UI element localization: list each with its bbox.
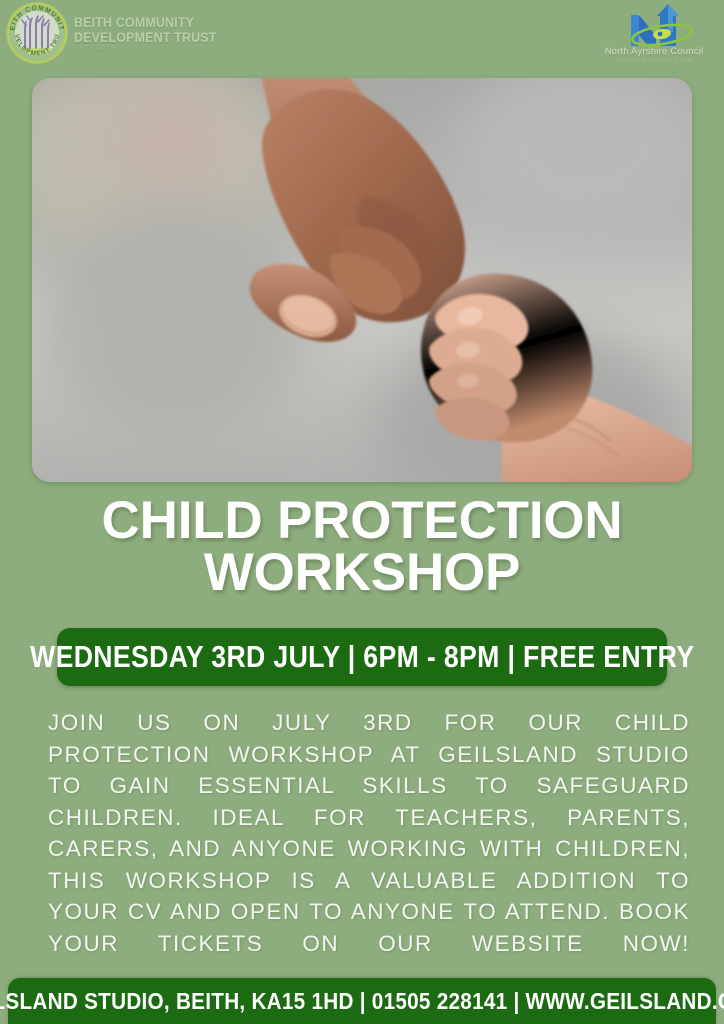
badge-top-text: BEITH COMMUNITY (6, 2, 65, 32)
badge-ring-text: BEITH COMMUNITY DEVELOPMENT TRUST (6, 2, 68, 64)
headline-line2: WORKSHOP (0, 547, 724, 599)
description-paragraph: JOIN US ON JULY 3RD FOR OUR CHILD PROTEC… (48, 707, 690, 991)
bcdt-wordmark-line1: BEITH COMMUNITY (74, 15, 217, 30)
event-details-banner: WEDNESDAY 3RD JULY | 6PM - 8PM | FREE EN… (57, 628, 667, 686)
na-monogram-icon (600, 2, 708, 48)
bcdt-wordmark: BEITH COMMUNITY DEVELOPMENT TRUST EST. 2… (74, 13, 229, 53)
poster: BEITH COMMUNITY DEVELOPMENT TRUST BEITH … (0, 0, 724, 1024)
hands-photo (32, 78, 692, 482)
nac-subtitle: Comhairle Siorrachd Àir a Tuath (600, 58, 708, 64)
north-ayrshire-council-logo: North Ayrshire Council Comhairle Siorrac… (600, 2, 708, 64)
contact-footer-bar: GEILSLAND STUDIO, BEITH, KA15 1HD | 0150… (8, 978, 716, 1024)
poster-header: BEITH COMMUNITY DEVELOPMENT TRUST BEITH … (0, 0, 724, 78)
headline-line1: CHILD PROTECTION (102, 491, 623, 550)
beith-community-development-trust-logo: BEITH COMMUNITY DEVELOPMENT TRUST BEITH … (6, 2, 229, 64)
trees-badge-icon: BEITH COMMUNITY DEVELOPMENT TRUST (6, 2, 68, 64)
page-title: CHILD PROTECTION WORKSHOP (0, 495, 724, 599)
bcdt-wordmark-line2: DEVELOPMENT TRUST (74, 30, 217, 45)
contact-footer-text: GEILSLAND STUDIO, BEITH, KA15 1HD | 0150… (0, 988, 724, 1015)
event-details-text: WEDNESDAY 3RD JULY | 6PM - 8PM | FREE EN… (30, 639, 694, 675)
bcdt-wordmark-line3: EST. 2013 (74, 46, 229, 53)
svg-text:BEITH COMMUNITY: BEITH COMMUNITY (6, 2, 65, 32)
